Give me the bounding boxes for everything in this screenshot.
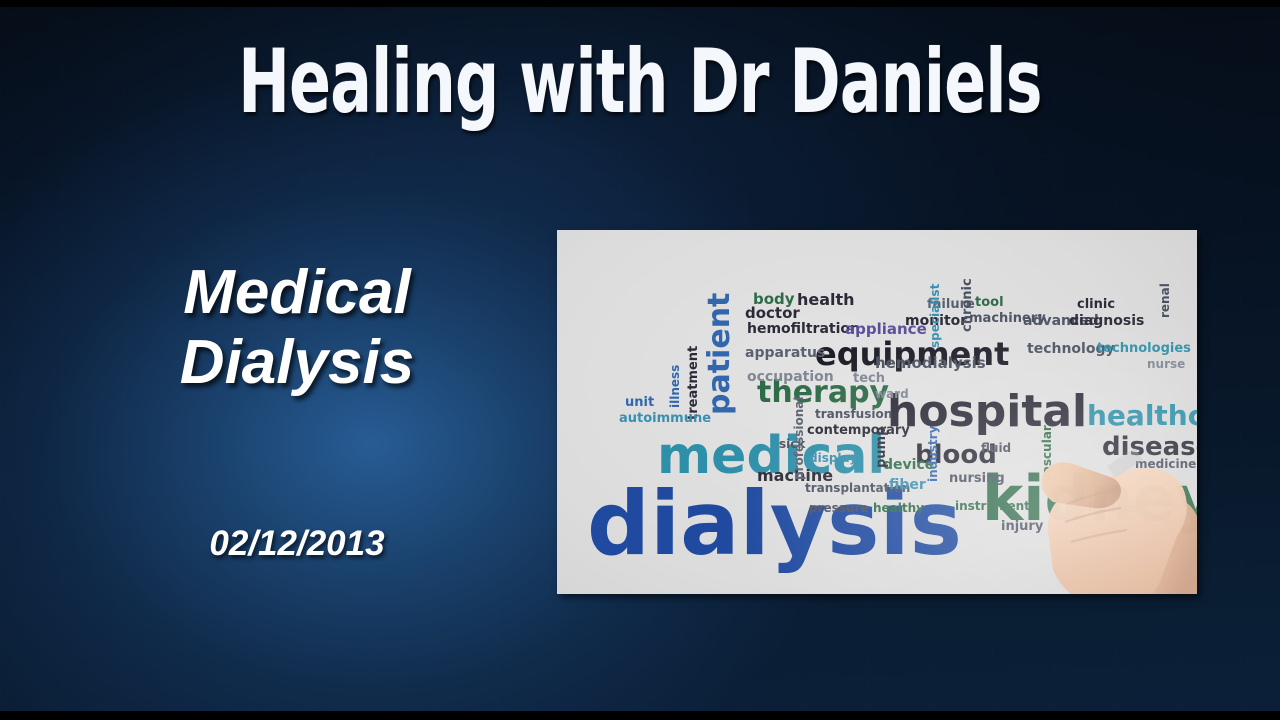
wordcloud-word: occupation bbox=[747, 370, 834, 384]
wordcloud-word: pressure bbox=[809, 502, 869, 514]
wordcloud-word: chronic bbox=[961, 278, 974, 332]
wordcloud-word: hemofiltration bbox=[747, 322, 860, 336]
episode-date: 02/12/2013 bbox=[62, 523, 532, 565]
letterbox-bar-bottom bbox=[0, 711, 1280, 720]
wordcloud-word: display bbox=[809, 452, 857, 464]
hand-holding-marker-icon bbox=[1009, 370, 1197, 594]
wordcloud-word: unit bbox=[625, 396, 654, 409]
video-slide: Healing with Dr Daniels Medical Dialysis… bbox=[0, 0, 1280, 720]
wordcloud-word: tool bbox=[975, 296, 1004, 309]
wordcloud-word: fiber bbox=[889, 478, 926, 492]
subject-line-1: Medical bbox=[62, 258, 532, 328]
wordcloud-word: tech bbox=[853, 372, 885, 385]
subject-line-2: Dialysis bbox=[62, 328, 532, 398]
wordcloud-word: technologies bbox=[1097, 342, 1191, 355]
wordcloud-word: pump bbox=[875, 427, 888, 468]
wordcloud-word: clinic bbox=[1077, 298, 1115, 311]
wordcloud-word: fluid bbox=[981, 442, 1011, 454]
wordcloud-word: patient bbox=[705, 293, 735, 415]
page-title: Healing with Dr Daniels bbox=[141, 34, 1139, 130]
wordcloud-word: health bbox=[797, 292, 855, 308]
wordcloud-word: professional bbox=[793, 396, 805, 480]
wordcloud-word: healthy bbox=[873, 502, 924, 514]
wordcloud-word: specialist bbox=[929, 284, 941, 348]
wordcloud-word: renal bbox=[1159, 283, 1171, 318]
wordcloud-word: ward bbox=[875, 388, 909, 400]
wordcloud-word: illness bbox=[669, 365, 681, 408]
wordcloud-word: treatment bbox=[687, 346, 700, 420]
letterbox-bar-top bbox=[0, 0, 1280, 7]
wordcloud-image: dialysismedicalkidneyhospitalequipmenthe… bbox=[557, 230, 1197, 594]
wordcloud-word: industry bbox=[927, 426, 939, 482]
wordcloud-word: nursing bbox=[949, 472, 1005, 485]
wordcloud-word: diagnosis bbox=[1069, 314, 1144, 328]
wordcloud-word: autoimmune bbox=[619, 412, 711, 425]
wordcloud-word: nurse bbox=[1147, 358, 1185, 370]
wordcloud-word: transfusion bbox=[815, 408, 892, 420]
wordcloud-word: doctor bbox=[745, 306, 800, 321]
wordcloud-word: hemodialysis bbox=[875, 356, 986, 371]
subject-heading: Medical Dialysis bbox=[62, 258, 532, 398]
wordcloud-word: apparatus bbox=[745, 346, 825, 360]
wordcloud-word: contemporary bbox=[807, 424, 910, 437]
